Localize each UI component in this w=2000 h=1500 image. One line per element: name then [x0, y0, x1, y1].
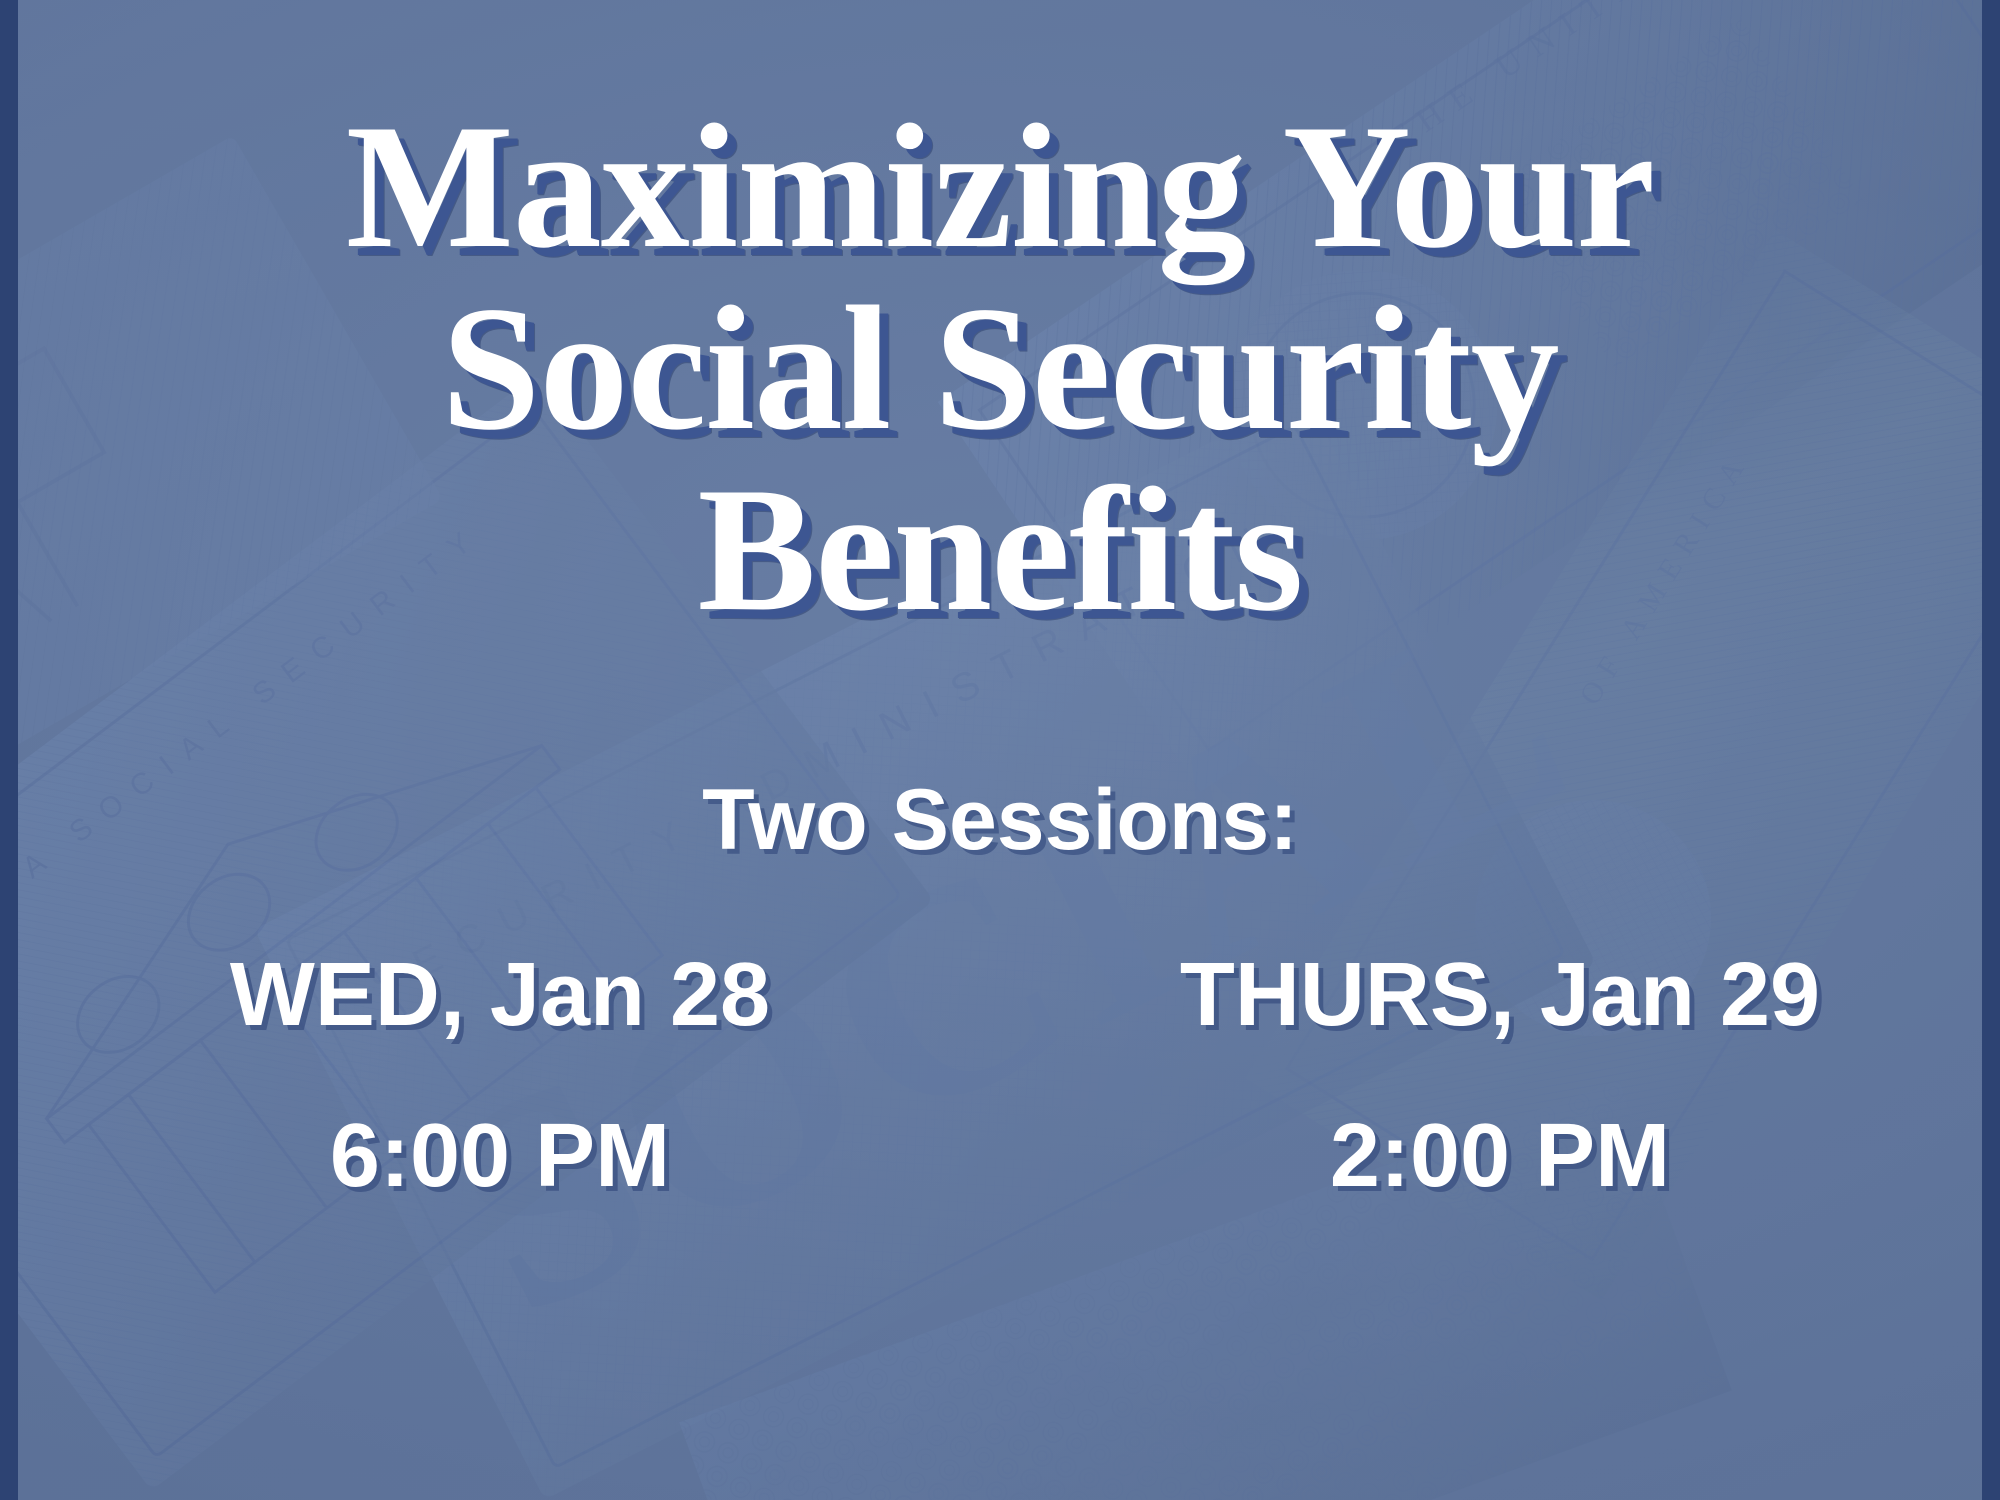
- sessions-row: WED, Jan 28 6:00 PM THURS, Jan 29 2:00 P…: [0, 944, 2000, 1208]
- title-line-1: Maximizing Your: [40, 96, 1960, 278]
- page-title: Maximizing Your Social Security Benefits: [0, 96, 2000, 641]
- session-column-1: WED, Jan 28 6:00 PM: [0, 944, 1000, 1208]
- slide-content: Maximizing Your Social Security Benefits…: [0, 0, 2000, 1500]
- promo-slide: THE UNITED STATES OF AMERICA SOCIAL SECU…: [0, 0, 2000, 1500]
- session-2-date: THURS, Jan 29: [1000, 944, 2000, 1047]
- sessions-label: Two Sessions:: [0, 771, 2000, 870]
- session-1-date: WED, Jan 28: [0, 944, 1000, 1047]
- session-1-time: 6:00 PM: [0, 1105, 1000, 1208]
- session-column-2: THURS, Jan 29 2:00 PM: [1000, 944, 2000, 1208]
- session-2-time: 2:00 PM: [1000, 1105, 2000, 1208]
- title-line-3: Benefits: [40, 459, 1960, 641]
- title-line-2: Social Security: [40, 278, 1960, 460]
